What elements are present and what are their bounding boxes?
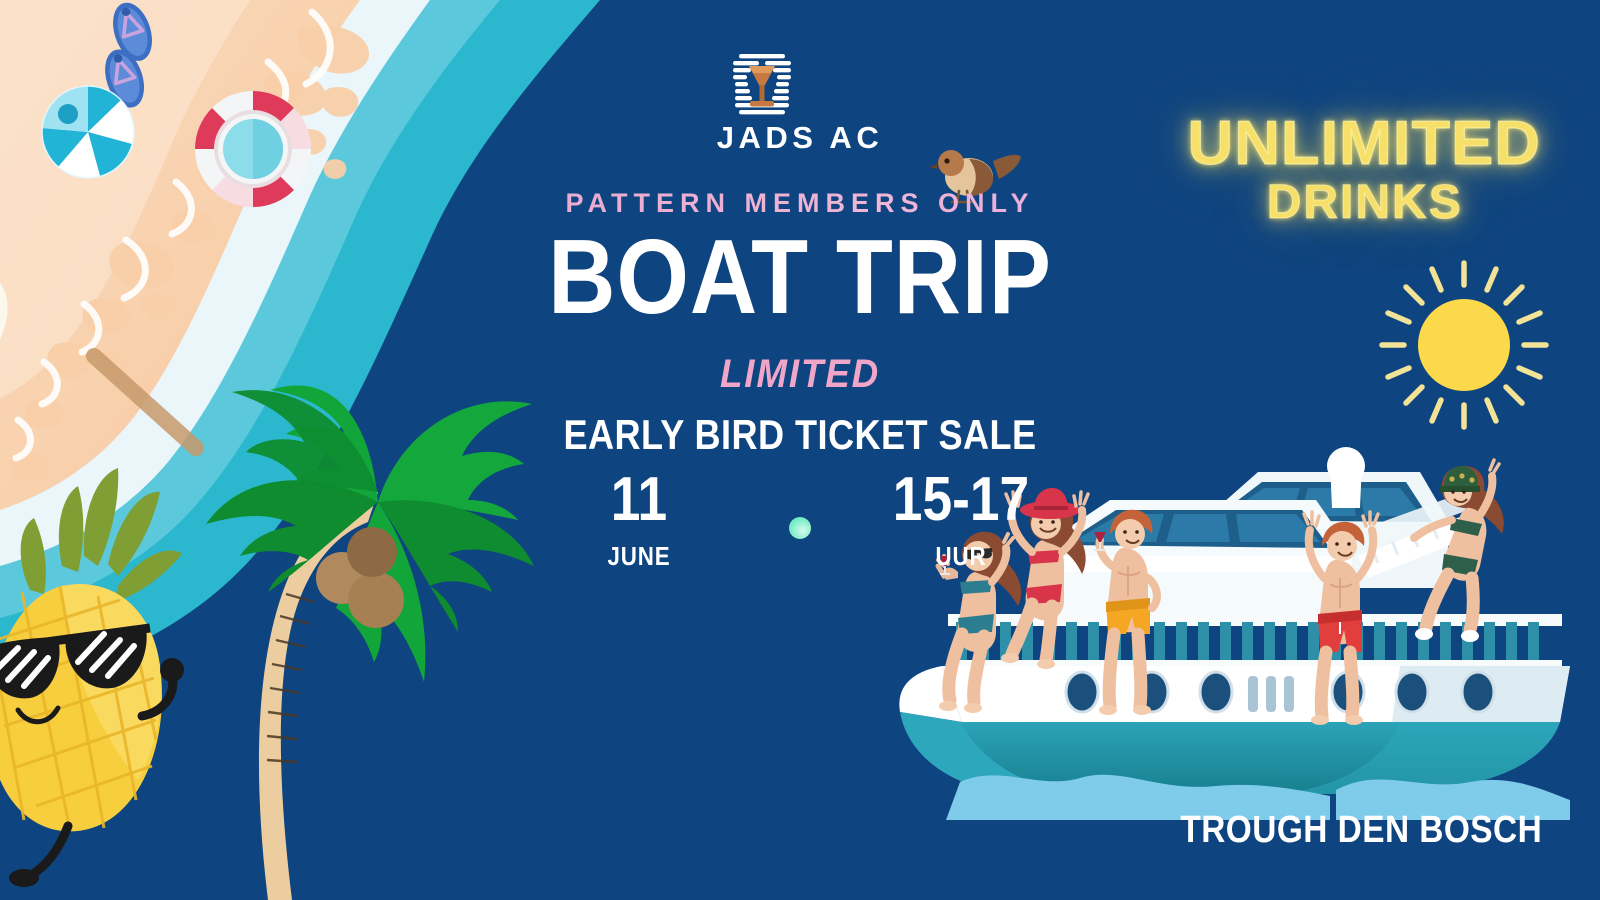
neon-line-1: UNLIMITED xyxy=(1188,108,1541,179)
date-value: 11 xyxy=(510,468,768,531)
separator-dot-icon xyxy=(789,517,811,539)
date-time-row: 11 JUNE 15-17 UUR xyxy=(430,468,1170,572)
date-block: 11 JUNE xyxy=(489,468,789,572)
time-block: 15-17 UUR xyxy=(811,468,1111,572)
date-unit: JUNE xyxy=(510,541,768,572)
time-value: 15-17 xyxy=(832,468,1090,531)
neon-line-2: DRINKS xyxy=(1191,175,1538,230)
location-label: TROUGH DEN BOSCH xyxy=(1180,809,1542,852)
sun-icon xyxy=(1382,263,1546,427)
event-poster: JADS AC PATTERN MEMBERS ONLY BOAT TRIP L… xyxy=(0,0,1600,900)
time-unit: UUR xyxy=(832,541,1090,572)
cocktail-glass-logo-icon xyxy=(723,52,801,116)
life-ring-icon xyxy=(195,91,311,207)
neon-sign: UNLIMITED DRINKS xyxy=(1191,108,1538,230)
beach-ball-icon xyxy=(42,86,134,178)
